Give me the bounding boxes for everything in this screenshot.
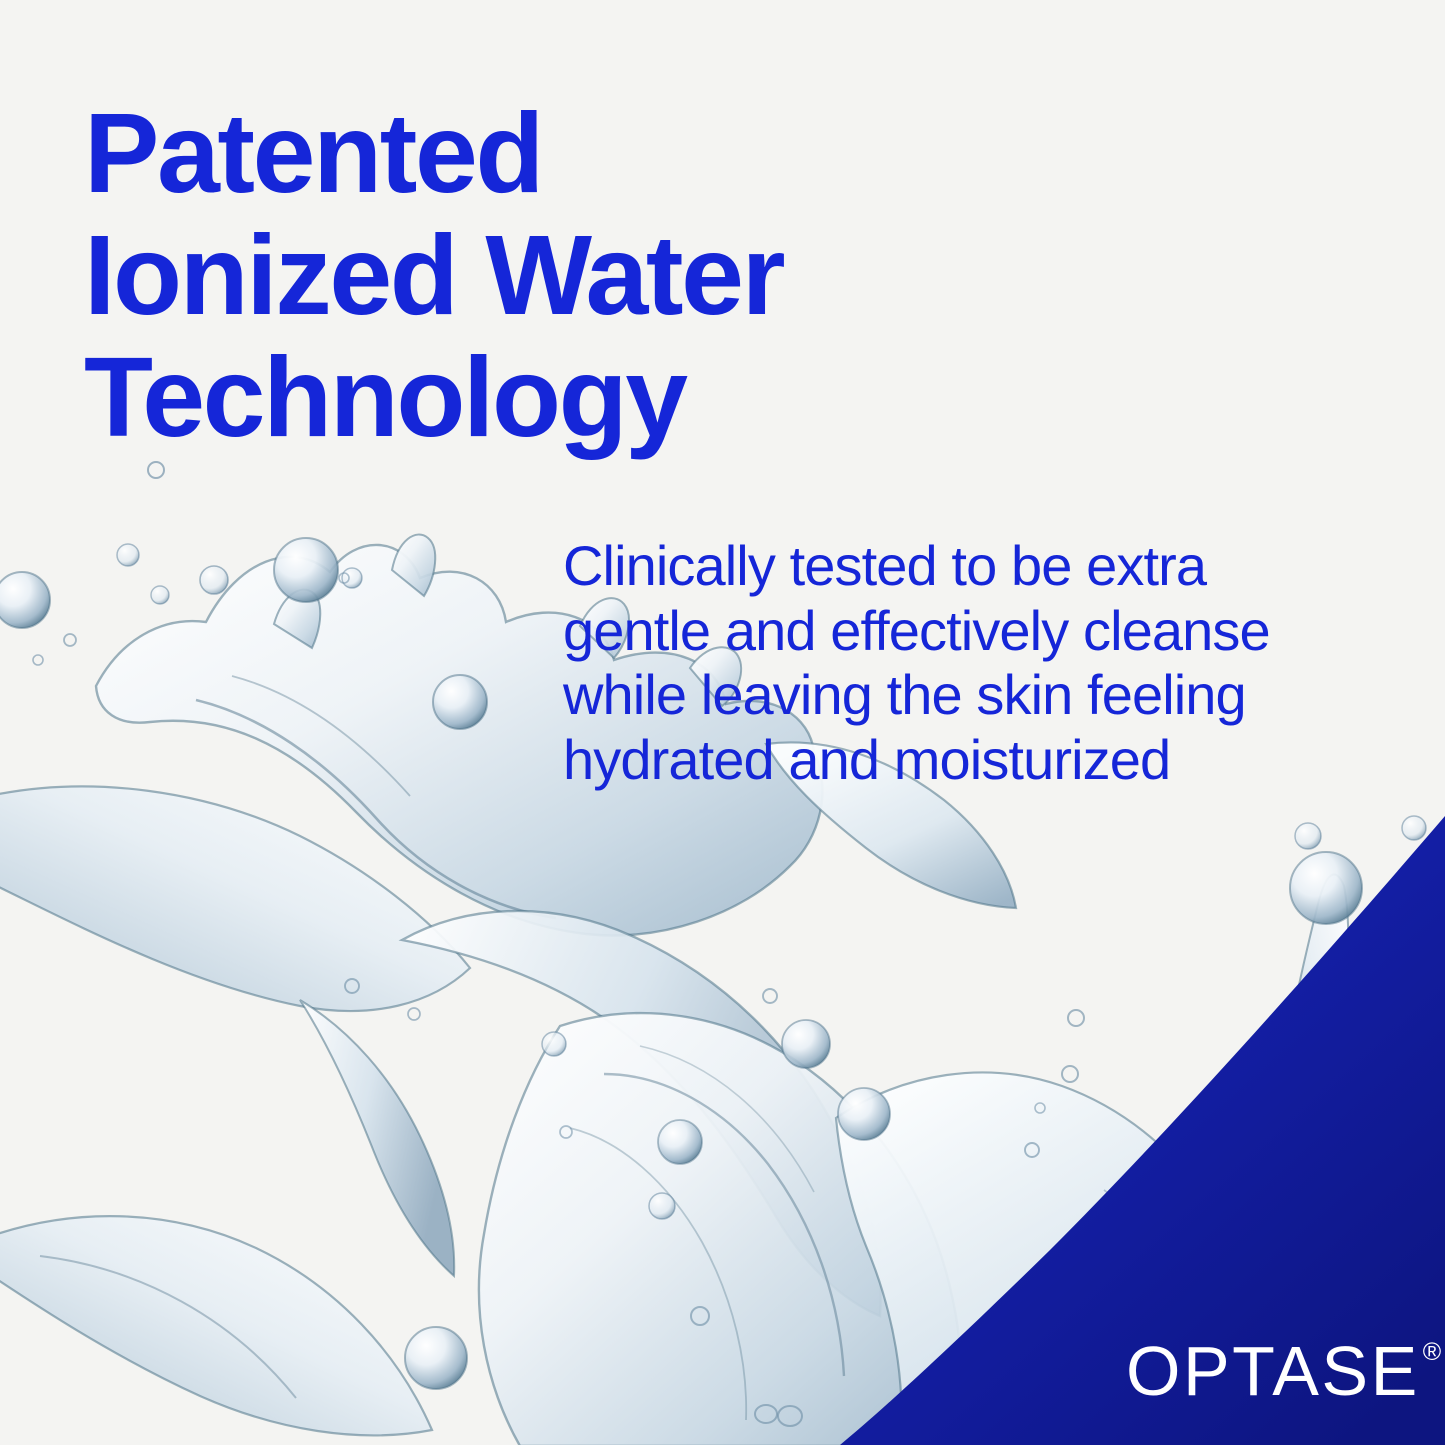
brand-logo: OPTASE ®	[1126, 1336, 1441, 1406]
page-subcopy: Clinically tested to be extra gentle and…	[563, 534, 1393, 793]
marketing-graphic: Patented Ionized Water Technology Clinic…	[0, 0, 1445, 1445]
registered-trademark-icon: ®	[1423, 1340, 1441, 1365]
brand-wordmark: OPTASE	[1126, 1336, 1420, 1406]
page-headline: Patented Ionized Water Technology	[84, 92, 984, 458]
